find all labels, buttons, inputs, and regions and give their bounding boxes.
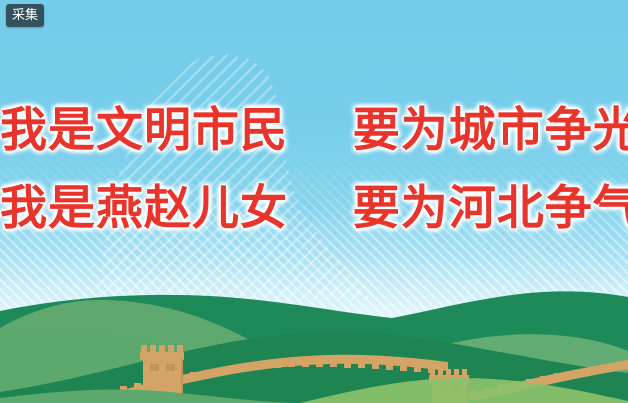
capture-button[interactable]: 采集: [6, 4, 44, 27]
sky-background: [0, 0, 628, 403]
banner-screenshot: 我是文明市民 要为城市争光 我是燕赵儿女 要为河北争气: [0, 0, 628, 403]
